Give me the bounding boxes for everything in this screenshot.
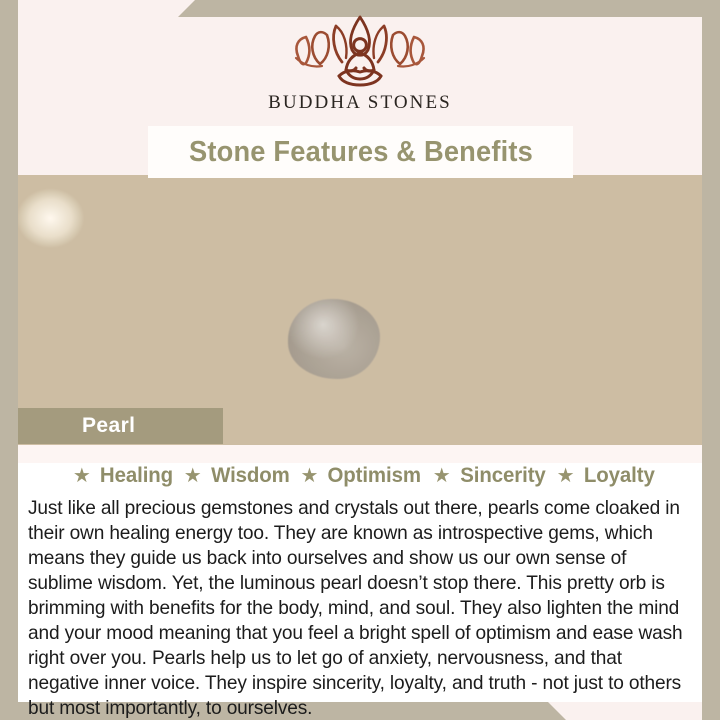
brand-name: BUDDHA STONES [268,92,452,114]
benefit-label: Loyalty [583,463,654,488]
star-icon: ★ [433,466,451,486]
benefit-item: ★Optimism [292,463,424,488]
pearl-photo [0,175,720,445]
star-icon: ★ [184,466,202,486]
benefit-item: ★Wisdom [175,463,292,488]
benefits-list: ★Healing★Wisdom★Optimism★Sincerity★Loyal… [18,463,702,488]
stone-name-chip: Pearl [18,408,223,444]
page-title: Stone Features & Benefits [188,136,532,169]
stone-info-card: BUDDHA STONES Stone Features & Benefits … [0,0,720,720]
benefit-item: ★Sincerity [424,463,548,488]
title-plate: Stone Features & Benefits [148,126,573,178]
stone-description: Just like all precious gemstones and cry… [28,496,684,720]
content-panel: ★Healing★Wisdom★Optimism★Sincerity★Loyal… [18,445,702,702]
benefit-label: Healing [100,463,173,488]
star-icon: ★ [557,466,575,486]
panel-top-tint [18,445,702,463]
benefit-item: ★Healing [64,463,175,488]
benefit-item: ★Loyalty [548,463,657,488]
brand-block: BUDDHA STONES [0,14,720,129]
benefit-label: Wisdom [211,463,290,488]
stone-name-label: Pearl [82,414,135,438]
lotus-meditation-figure-icon [284,14,436,88]
benefit-label: Sincerity [460,463,545,488]
benefit-label: Optimism [328,463,421,488]
hero-image [0,175,720,445]
star-icon: ★ [73,466,91,486]
star-icon: ★ [301,466,319,486]
